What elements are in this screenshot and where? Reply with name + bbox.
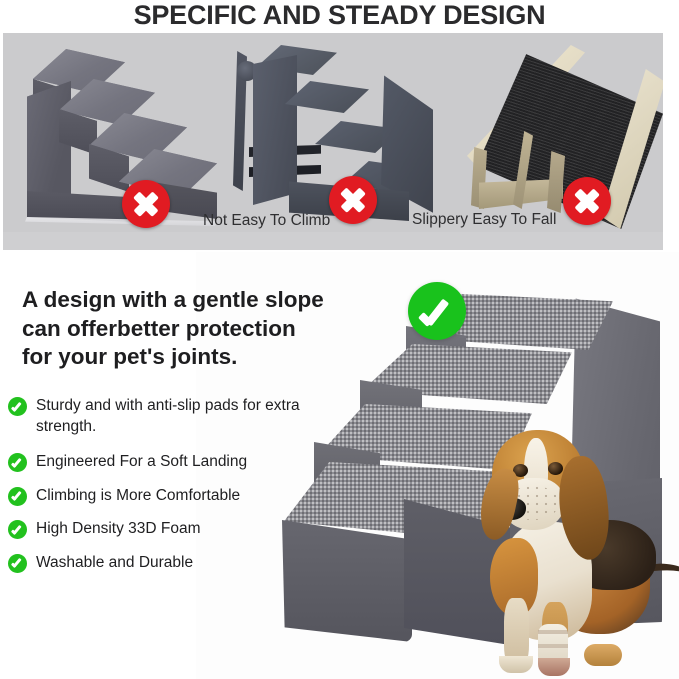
bullet-label: Engineered For a Soft Landing xyxy=(36,453,247,470)
foam-block-stairs-image xyxy=(11,41,216,231)
list-item: Climbing is More Comfortable xyxy=(6,486,342,507)
comparison-item-3 xyxy=(447,33,663,250)
green-check-icon xyxy=(408,282,466,340)
green-check-icon xyxy=(8,520,27,539)
reject-badge-1 xyxy=(122,180,170,228)
green-check-icon xyxy=(8,397,27,416)
green-check-icon xyxy=(8,487,27,506)
green-check-icon xyxy=(8,453,27,472)
bullet-label: Sturdy and with anti-slip pads for extra… xyxy=(36,397,300,435)
list-item: Sturdy and with anti-slip pads for extra… xyxy=(6,396,342,437)
comparison-item-2: Slippery Easy To Fall xyxy=(225,33,445,250)
bullet-label: Washable and Durable xyxy=(36,554,193,571)
bullet-label: Climbing is More Comfortable xyxy=(36,487,240,504)
reject-badge-3 xyxy=(563,177,611,225)
comparison-panel: Not Easy To Climb Slippe xyxy=(3,33,663,250)
wooden-carpet-ramp-image xyxy=(451,39,659,237)
reject-badge-2 xyxy=(329,176,377,224)
beagle-dog-with-bandaged-paw-image xyxy=(468,412,679,679)
list-item: Engineered For a Soft Landing xyxy=(6,452,342,473)
green-check-icon xyxy=(8,554,27,573)
comparison-item-1: Not Easy To Climb xyxy=(3,33,223,250)
page-title: SPECIFIC AND STEADY DESIGN xyxy=(0,0,679,32)
bullet-label: High Density 33D Foam xyxy=(36,520,201,537)
